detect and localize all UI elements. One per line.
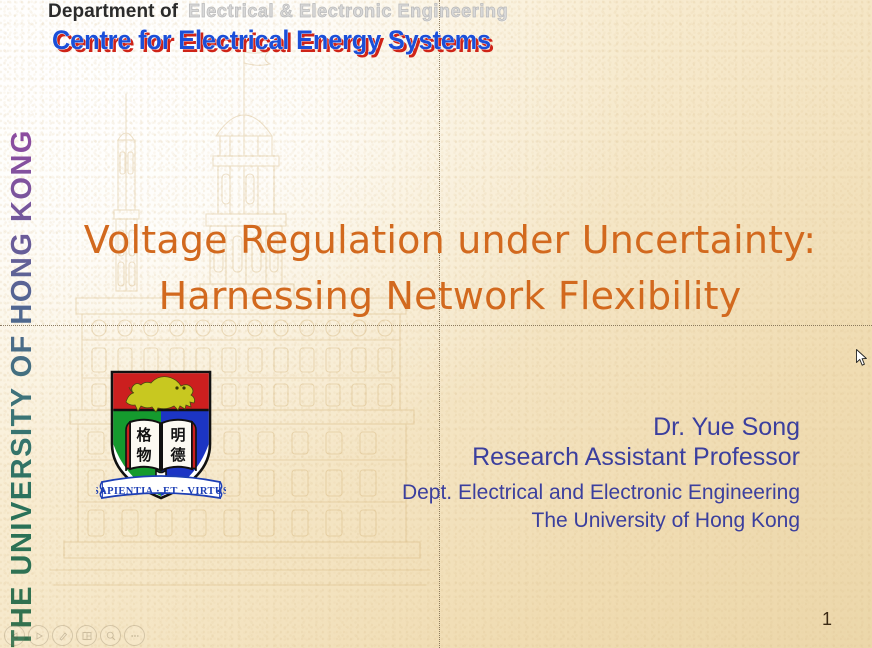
crest-chinese-left-bottom: 物 <box>136 446 151 464</box>
more-options-icon[interactable] <box>124 625 145 646</box>
centre-name: Centre for Electrical Energy Systems <box>52 25 491 56</box>
crest-chinese-left-top: 格 <box>136 426 152 444</box>
department-name: Electrical & Electronic Engineering <box>188 0 508 22</box>
hku-crest-logo: 格 物 明 德 SAPIENTIA · ET · VIRTUS <box>96 366 226 518</box>
centre-logo: Centre for Electrical Energy Systems Cen… <box>48 25 568 55</box>
department-header: Department of Electrical & Electronic En… <box>48 0 568 55</box>
zoom-tool-icon[interactable] <box>100 625 121 646</box>
crest-chinese-right-top: 明 <box>170 426 185 444</box>
horizontal-guide-line <box>0 325 872 326</box>
crest-motto: SAPIENTIA · ET · VIRTUS <box>96 486 226 497</box>
presenter-toolbar[interactable] <box>4 625 145 646</box>
author-role: Research Assistant Professor <box>402 442 800 472</box>
author-department: Dept. Electrical and Electronic Engineer… <box>402 479 800 507</box>
slide-title: Voltage Regulation under Uncertainty: Ha… <box>60 212 840 324</box>
slide-thumbnails-icon[interactable] <box>76 625 97 646</box>
vertical-guide-line <box>439 0 440 648</box>
crest-chinese-right-bottom: 德 <box>170 446 185 464</box>
next-slide-icon[interactable] <box>28 625 49 646</box>
author-block: Dr. Yue Song Research Assistant Professo… <box>402 412 800 535</box>
paper-texture <box>0 0 872 648</box>
mouse-cursor <box>856 349 868 367</box>
author-name: Dr. Yue Song <box>402 412 800 442</box>
presentation-slide: THE UNIVERSITY OF HONG KONG Department o… <box>0 0 872 648</box>
department-prefix: Department of <box>48 1 178 23</box>
slide-title-line-2: Harnessing Network Flexibility <box>60 268 840 324</box>
university-side-band-text: THE UNIVERSITY OF HONG KONG <box>6 107 39 648</box>
pen-tool-icon[interactable] <box>52 625 73 646</box>
hku-main-building-watermark <box>30 40 450 620</box>
previous-slide-icon[interactable] <box>4 625 25 646</box>
university-side-band: THE UNIVERSITY OF HONG KONG <box>0 0 44 648</box>
slide-title-line-1: Voltage Regulation under Uncertainty: <box>60 212 840 268</box>
author-university: The University of Hong Kong <box>402 507 800 535</box>
department-line: Department of Electrical & Electronic En… <box>48 0 568 25</box>
page-number: 1 <box>822 609 832 630</box>
